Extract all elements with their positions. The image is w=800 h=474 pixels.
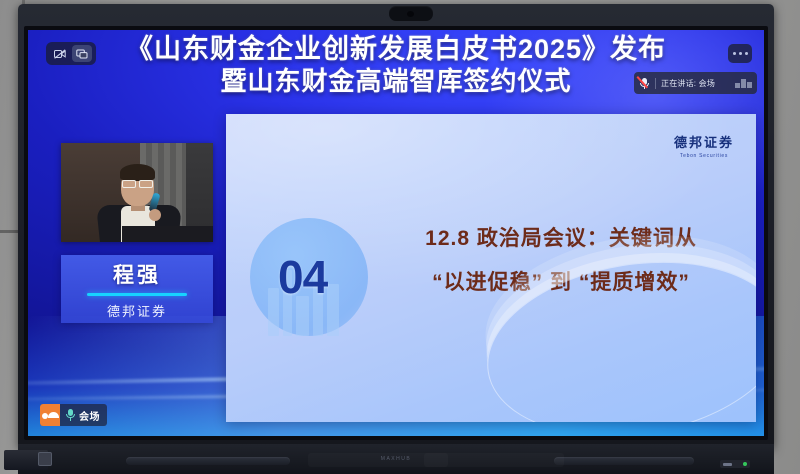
speaker-organization: 德邦证券 [107, 301, 167, 320]
mic-icon[interactable] [65, 408, 76, 422]
dot [745, 52, 748, 55]
active-speaker-label: 正在讲话: 会场 [661, 78, 715, 89]
stop-video-icon[interactable] [50, 45, 70, 62]
speaker-video-tile[interactable] [61, 143, 213, 242]
mic-muted-icon [639, 77, 650, 90]
display-soundbar: MAXHUB [18, 444, 774, 474]
slide-logo-cn: 德邦证券 [674, 132, 734, 151]
conference-room-scene: 《山东财金企业创新发展白皮书2025》发布 暨山东财金高端智库签约仪式 正在讲话… [0, 0, 800, 474]
speaker-hand [149, 209, 161, 221]
wall-display-unit: 《山东财金企业创新发展白皮书2025》发布 暨山东财金高端智库签约仪式 正在讲话… [18, 4, 774, 474]
event-title-line1: 《山东财金企业创新发展白皮书2025》发布 [28, 34, 764, 65]
name-card-divider [87, 293, 187, 296]
screen-share-icon[interactable] [72, 45, 92, 62]
display-power-button[interactable] [38, 452, 52, 466]
speaker-name: 程强 [113, 259, 161, 289]
skyline-bar [327, 284, 339, 336]
active-speaker-toast: 正在讲话: 会场 [634, 72, 757, 94]
person-avatar-icon [40, 404, 60, 426]
dot [739, 52, 742, 55]
power-indicator [720, 460, 750, 468]
camera-lens-icon [407, 11, 414, 17]
participant-name: 会场 [79, 408, 107, 423]
display-camera [389, 6, 433, 21]
toast-divider [655, 78, 656, 89]
podium [122, 226, 213, 242]
slide-section-number: 04 [278, 250, 327, 304]
shared-slide[interactable]: 德邦证券 Tebon Securities 04 12.8 政治局会议：关键词从… [226, 114, 756, 422]
video-controls-group[interactable] [46, 42, 96, 65]
speaker-name-card: 程强 德邦证券 [61, 255, 213, 323]
soundbar-brand-label: MAXHUB [18, 456, 774, 462]
dot [733, 52, 736, 55]
meeting-app-screen: 《山东财金企业创新发展白皮书2025》发布 暨山东财金高端智库签约仪式 正在讲话… [28, 30, 764, 436]
speaker-figure [120, 164, 155, 181]
display-bezel: 《山东财金企业创新发展白皮书2025》发布 暨山东财金高端智库签约仪式 正在讲话… [18, 4, 774, 448]
slide-heading-line1: 12.8 政治局会议：关键词从 [376, 222, 746, 252]
audio-wave-icon [735, 79, 752, 88]
participant-badge[interactable]: 会场 [40, 404, 107, 426]
more-options-button[interactable] [728, 44, 752, 63]
slide-logo: 德邦证券 Tebon Securities [674, 132, 734, 159]
slide-logo-en: Tebon Securities [674, 153, 734, 159]
glasses-icon [122, 180, 153, 186]
